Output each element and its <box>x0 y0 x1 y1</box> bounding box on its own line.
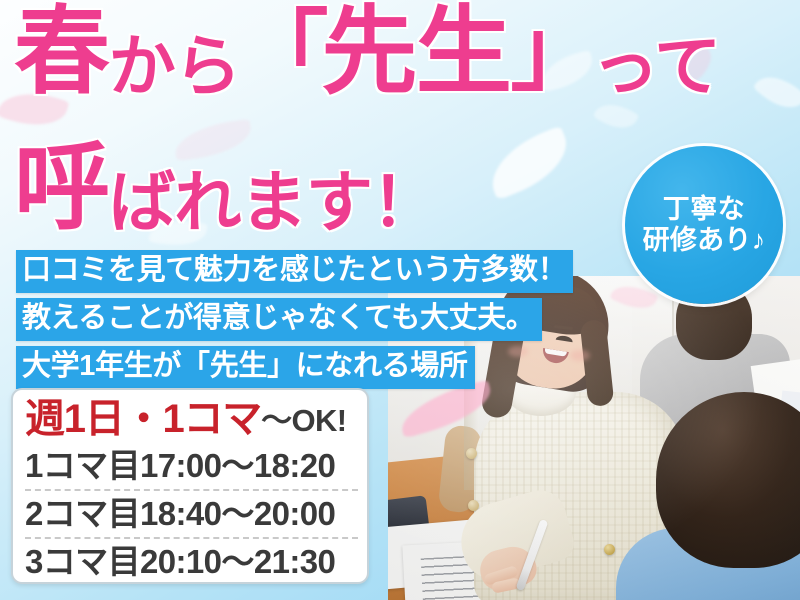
highlight-bar-row: 口コミを見て魅力を感じたという方多数！ <box>16 250 573 298</box>
headline-seg: 呼 <box>14 134 109 241</box>
headline-seg: から <box>109 30 241 105</box>
headline-line-1: 春から「先生」って <box>14 4 794 122</box>
highlight-bar: 大学1年生が「先生」になれる場所 <box>16 346 475 389</box>
highlight-bar-row: 教えることが得意じゃなくても大丈夫。 <box>16 298 573 346</box>
sakura-petal-icon <box>537 50 597 92</box>
sakura-petal-icon <box>148 216 207 250</box>
headline-seg: ばれます！ <box>109 166 438 241</box>
headline-seg: 先生 <box>321 0 510 105</box>
highlight-bars: 口コミを見て魅力を感じたという方多数！ 教えることが得意じゃなくても大丈夫。 大… <box>16 250 573 394</box>
schedule-row: 2コマ目18:40〜20:00 <box>25 491 358 539</box>
schedule-heading-red: 週1日・1コマ <box>25 397 261 441</box>
sakura-petal-icon <box>0 84 69 135</box>
training-badge: 丁寧な 研修あり♪ <box>625 146 783 304</box>
job-ad-banner: 春から「先生」って 呼ばれます！ 丁寧な 研修あり♪ 口コミを見て魅力を感じたと… <box>0 0 800 600</box>
highlight-bar-row: 大学1年生が「先生」になれる場所 <box>16 346 573 394</box>
schedule-heading: 週1日・1コマ〜OK! <box>25 396 358 439</box>
schedule-row: 3コマ目20:10〜21:30 <box>25 539 358 585</box>
sakura-petal-icon <box>172 119 254 162</box>
cardigan-button <box>604 544 615 555</box>
sakura-petal-icon <box>753 66 800 118</box>
highlight-bar: 口コミを見て魅力を感じたという方多数！ <box>16 250 573 293</box>
schedule-panel: 週1日・1コマ〜OK! 1コマ目17:00〜18:20 2コマ目18:40〜20… <box>11 388 369 584</box>
highlight-bar: 教えることが得意じゃなくても大丈夫。 <box>16 298 542 341</box>
sakura-petal-icon <box>481 126 578 201</box>
schedule-heading-ok: 〜OK! <box>261 403 346 438</box>
headline-seg: 春 <box>14 0 109 105</box>
sakura-petal-icon <box>593 96 640 137</box>
headline-seg: 」 <box>510 2 591 101</box>
sakura-petal-icon <box>677 45 719 85</box>
cardigan-button <box>466 448 477 459</box>
headline-seg: って <box>592 30 720 105</box>
badge-line-2: 研修あり♪ <box>643 225 766 256</box>
schedule-row: 1コマ目17:00〜18:20 <box>25 443 358 491</box>
badge-line-1: 丁寧な <box>663 194 746 225</box>
headline-seg: 「 <box>240 2 321 101</box>
